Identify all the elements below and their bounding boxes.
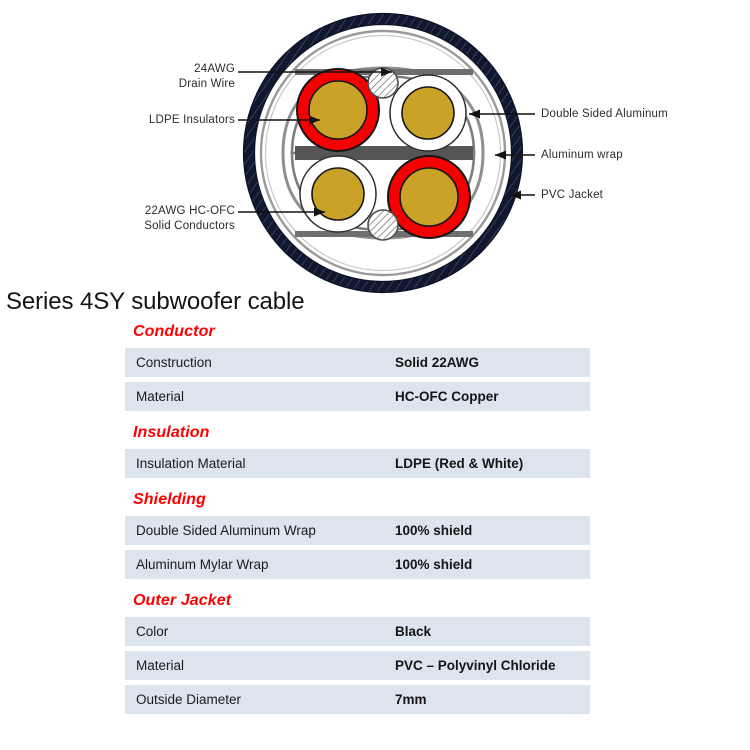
- callout-double-sided-aluminum: Double Sided Aluminum: [541, 107, 741, 122]
- spec-row-label: Material: [125, 658, 395, 673]
- section-heading-shielding: Shielding: [125, 483, 590, 516]
- spec-row-value: Black: [395, 624, 590, 639]
- spec-row: ColorBlack: [125, 617, 590, 646]
- spec-row-label: Construction: [125, 355, 395, 370]
- callout-solid-conductors: 22AWG HC-OFC Solid Conductors: [135, 204, 235, 234]
- spec-row-value: PVC – Polyvinyl Chloride: [395, 658, 590, 673]
- spec-row: MaterialPVC – Polyvinyl Chloride: [125, 651, 590, 680]
- spec-row-value: LDPE (Red & White): [395, 456, 590, 471]
- spec-row-value: Solid 22AWG: [395, 355, 590, 370]
- spec-row-label: Aluminum Mylar Wrap: [125, 557, 395, 572]
- spec-row-label: Double Sided Aluminum Wrap: [125, 523, 395, 538]
- spec-row: ConstructionSolid 22AWG: [125, 348, 590, 377]
- spec-row: Double Sided Aluminum Wrap100% shield: [125, 516, 590, 545]
- spec-row: Outside Diameter7mm: [125, 685, 590, 714]
- spec-row-label: Insulation Material: [125, 456, 395, 471]
- spec-row-value: 100% shield: [395, 557, 590, 572]
- page-title: Series 4SY subwoofer cable: [6, 288, 304, 316]
- spec-row: MaterialHC-OFC Copper: [125, 382, 590, 411]
- spec-row-value: HC-OFC Copper: [395, 389, 590, 404]
- spec-row-label: Outside Diameter: [125, 692, 395, 707]
- callout-drain-wire: 24AWG Drain Wire: [150, 62, 235, 92]
- specification-table: ConductorConstructionSolid 22AWGMaterial…: [125, 315, 590, 719]
- spec-row-value: 100% shield: [395, 523, 590, 538]
- spec-row-value: 7mm: [395, 692, 590, 707]
- conductor-lower-right-copper: [400, 168, 458, 226]
- section-heading-outer-jacket: Outer Jacket: [125, 584, 590, 617]
- spec-row: Insulation MaterialLDPE (Red & White): [125, 449, 590, 478]
- callout-pvc-jacket: PVC Jacket: [541, 188, 741, 203]
- callout-aluminum-wrap: Aluminum wrap: [541, 148, 741, 163]
- conductor-upper-left-copper: [309, 81, 367, 139]
- callout-ldpe-insulators: LDPE Insulators: [132, 113, 235, 128]
- conductor-upper-right-copper: [402, 87, 454, 139]
- spec-row-label: Color: [125, 624, 395, 639]
- section-heading-insulation: Insulation: [125, 416, 590, 449]
- section-heading-conductor: Conductor: [125, 315, 590, 348]
- cable-diagram: 24AWG Drain Wire LDPE Insulators 22AWG H…: [0, 0, 750, 300]
- drain-wire-lower: [368, 210, 398, 240]
- spec-row-label: Material: [125, 389, 395, 404]
- spec-row: Aluminum Mylar Wrap100% shield: [125, 550, 590, 579]
